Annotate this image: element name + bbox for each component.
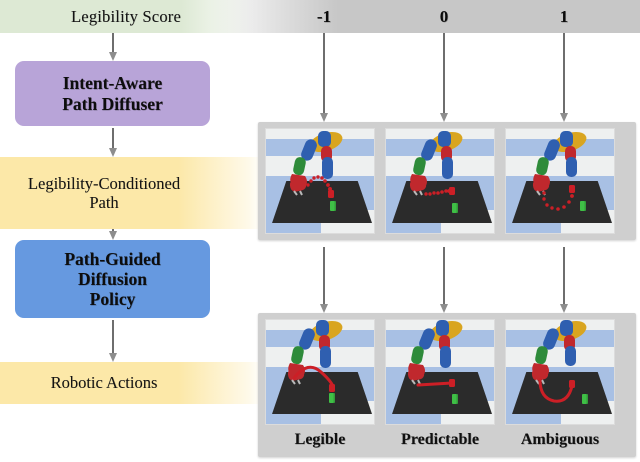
block-line-3: Policy	[90, 289, 136, 309]
arrow-path-panel-2-to-action-panel-2	[443, 247, 445, 305]
score-value-1: 1	[534, 0, 594, 33]
panel-action-predictable[interactable]	[385, 319, 495, 425]
robot-arm	[266, 320, 375, 425]
sim-scene	[266, 320, 374, 424]
band-line-1: Legibility-Conditioned	[28, 174, 180, 193]
panel-action-ambiguous[interactable]	[505, 319, 615, 425]
caption-legible: Legible	[265, 427, 375, 453]
block-line-1: Intent-Aware	[63, 73, 162, 93]
sim-scene	[506, 320, 614, 424]
block-intent-aware-path-diffuser[interactable]: Intent-Aware Path Diffuser	[15, 61, 210, 126]
sim-scene	[506, 129, 614, 233]
robot-arm	[386, 320, 495, 425]
arrow-policy-to-actions	[112, 320, 114, 354]
robot-arm	[506, 320, 615, 425]
caption-predictable: Predictable	[385, 427, 495, 453]
sim-scene	[266, 129, 374, 233]
legibility-score-label: Legibility Score	[71, 7, 181, 27]
block-line-2: Path Diffuser	[62, 94, 163, 114]
robot-arm	[506, 129, 615, 234]
arrow-score-minus1-to-panel	[323, 33, 325, 114]
top-panel-group	[258, 122, 636, 240]
score-value-minus-1: -1	[294, 0, 354, 33]
robot-arm	[386, 129, 495, 234]
arrow-score-1-to-panel	[563, 33, 565, 114]
sim-scene	[386, 320, 494, 424]
robot-arm	[266, 129, 375, 234]
figure-canvas: Legibility Score -1 0 1 Intent-Aware Pat…	[0, 0, 640, 462]
caption-ambiguous: Ambiguous	[505, 427, 615, 453]
panel-action-legible[interactable]	[265, 319, 375, 425]
legibility-score-label-band: Legibility Score	[0, 0, 252, 33]
sim-scene	[386, 129, 494, 233]
arrow-score-0-to-panel	[443, 33, 445, 114]
block-line-1: Path-Guided	[64, 249, 160, 269]
robotic-actions-label: Robotic Actions	[0, 362, 208, 404]
panel-path-score-minus1[interactable]	[265, 128, 375, 234]
arrow-path-panel-3-to-action-panel-3	[563, 247, 565, 305]
panel-path-score-0[interactable]	[385, 128, 495, 234]
legibility-conditioned-path-label: Legibility-Conditioned Path	[0, 157, 208, 229]
arrow-path-to-policy	[112, 229, 114, 232]
panel-path-score-1[interactable]	[505, 128, 615, 234]
block-line-2: Diffusion	[78, 269, 147, 289]
arrow-diffuser-to-path	[112, 128, 114, 149]
arrow-path-panel-1-to-action-panel-1	[323, 247, 325, 305]
block-path-guided-diffusion-policy[interactable]: Path-Guided Diffusion Policy	[15, 240, 210, 318]
score-value-0: 0	[414, 0, 474, 33]
band-line-2: Path	[89, 193, 118, 212]
arrow-score-to-diffuser	[112, 33, 114, 53]
bottom-panel-group: Legible Predictable Ambiguous	[258, 313, 636, 457]
